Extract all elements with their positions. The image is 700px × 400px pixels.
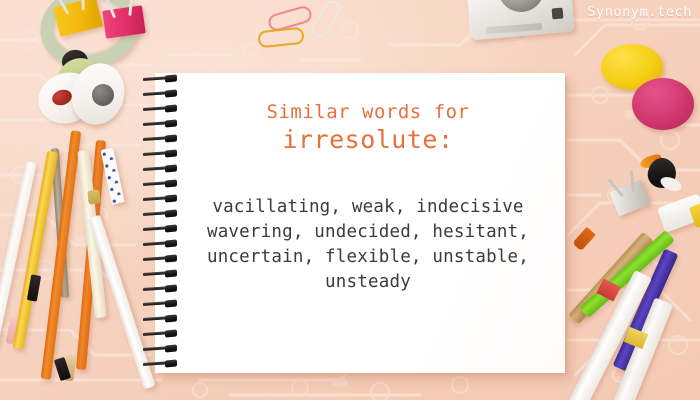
synonym-list: vacillating, weak, indecisive wavering, … — [183, 195, 553, 295]
spiral-ring — [143, 91, 183, 96]
spiral-ring-knob — [165, 104, 177, 112]
spiral-ring-knob — [165, 284, 177, 292]
spiral-ring-knob — [165, 74, 177, 82]
synonym-line: unsteady — [183, 270, 553, 295]
spiral-ring — [143, 76, 183, 81]
notepad-content: Similar words for irresolute: vacillatin… — [183, 73, 553, 373]
spiral-ring — [143, 301, 183, 306]
spiral-ring — [143, 346, 183, 351]
spiral-ring-knob — [165, 89, 177, 97]
spiral-ring-knob — [165, 239, 177, 247]
spiral-ring-knob — [165, 299, 177, 307]
spiral-ring — [143, 331, 183, 336]
spiral-ring-knob — [165, 254, 177, 262]
headword: irresolute: — [183, 125, 553, 154]
spiral-ring — [143, 316, 183, 321]
binder-clip-pink-icon — [102, 5, 146, 38]
macaron-pink — [632, 78, 694, 130]
synonym-line: uncertain, flexible, unstable, — [183, 245, 553, 270]
spiral-ring — [143, 361, 183, 366]
spiral-ring — [143, 166, 183, 171]
spiral-ring — [143, 121, 183, 126]
spiral-ring-knob — [165, 359, 177, 367]
spiral-ring — [143, 256, 183, 261]
spiral-ring-knob — [165, 194, 177, 202]
spiral-ring — [143, 286, 183, 291]
stone-gray-dot — [92, 84, 114, 106]
spiral-ring-knob — [165, 269, 177, 277]
spiral-ring — [143, 106, 183, 111]
spiral-ring — [143, 226, 183, 231]
synonym-line: wavering, undecided, hesitant, — [183, 220, 553, 245]
desk-scene: Similar words for irresolute: vacillatin… — [0, 0, 700, 400]
spiral-ring-knob — [165, 164, 177, 172]
spiral-ring-knob — [165, 134, 177, 142]
spiral-ring-knob — [165, 179, 177, 187]
spiral-binding — [143, 76, 185, 376]
site-watermark: Synonym.tech — [587, 4, 692, 20]
spiral-ring-knob — [165, 344, 177, 352]
spiral-ring-knob — [165, 314, 177, 322]
pen-cream-band — [87, 189, 100, 204]
spiral-ring — [143, 151, 183, 156]
spiral-ring — [143, 241, 183, 246]
spiral-ring-knob — [165, 149, 177, 157]
notepad: Similar words for irresolute: vacillatin… — [155, 73, 565, 373]
spiral-ring-knob — [165, 224, 177, 232]
spiral-ring — [143, 271, 183, 276]
spiral-ring — [143, 181, 183, 186]
spiral-ring-knob — [165, 209, 177, 217]
spiral-ring — [143, 196, 183, 201]
synonym-line: vacillating, weak, indecisive — [183, 195, 553, 220]
spiral-ring — [143, 136, 183, 141]
spiral-ring-knob — [165, 119, 177, 127]
spiral-ring — [143, 211, 183, 216]
camera-flash — [552, 8, 564, 20]
spiral-ring-knob — [165, 329, 177, 337]
page-title-prefix: Similar words for — [183, 101, 553, 123]
